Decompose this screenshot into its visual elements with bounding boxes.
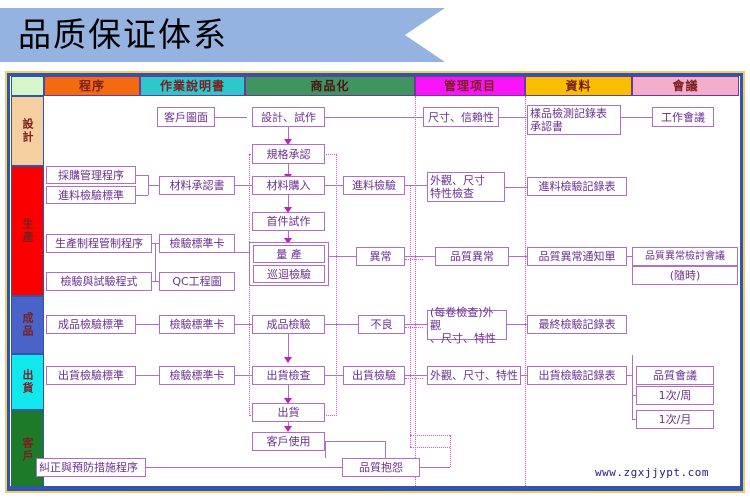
box-appearance-dimension-check-text: 外觀、尺寸 特性檢查 — [430, 174, 485, 200]
stage-label-production: 生產 — [21, 218, 34, 244]
connector-h — [136, 375, 159, 376]
header-column-procedure: 程序 — [44, 76, 140, 96]
connector-h — [146, 467, 342, 468]
connector-v — [385, 441, 386, 458]
connector-h — [405, 324, 427, 325]
connector-v — [325, 441, 326, 458]
dotted-connector-complaint-up — [450, 435, 451, 467]
box-finished-inspection-standard[interactable]: 成品檢驗標準 — [46, 315, 136, 334]
box-customer-drawing[interactable]: 客戶圖面 — [157, 107, 215, 127]
connector-v — [632, 355, 633, 420]
box-quality-abnormal-review-meeting[interactable]: 品質異常檢討會議 — [632, 247, 738, 266]
box-customer-use[interactable]: 客戶使用 — [252, 432, 325, 451]
dotted-connector-complaint-top — [410, 435, 450, 436]
connector-h — [621, 117, 652, 118]
connector-h — [215, 117, 247, 118]
connector-h — [325, 441, 385, 442]
connector-h — [509, 256, 527, 257]
box-material-purchase[interactable]: 材料購入 — [252, 176, 325, 195]
box-abnormal[interactable]: 異常 — [356, 247, 405, 266]
box-weekly-frequency[interactable]: 1次/周 — [636, 386, 714, 405]
connector-h — [136, 324, 159, 325]
connector-h — [136, 195, 148, 196]
box-patrol-inspection[interactable]: 巡迴檢驗 — [253, 265, 325, 283]
box-incoming-inspection-standard[interactable]: 進料檢驗標準 — [46, 186, 136, 204]
box-shipping-inspection[interactable]: 出貨檢驗 — [343, 366, 405, 385]
box-mass-production[interactable]: 量 產 — [253, 245, 325, 263]
stage-production: 生產 — [11, 166, 44, 296]
box-inspection-standard-card-1[interactable]: 檢驗標準卡 — [159, 234, 235, 253]
connector-h — [325, 324, 358, 325]
stage-label-finished-product: 成品 — [21, 312, 34, 338]
connector-h — [405, 256, 435, 257]
connector-h — [507, 324, 527, 325]
box-design-trial[interactable]: 設計、試作 — [252, 107, 325, 127]
box-monthly-frequency[interactable]: 1次/月 — [636, 410, 714, 429]
box-inspection-standard-card-3[interactable]: 檢驗標準卡 — [159, 366, 235, 385]
watermark-url: www.zgxjjypt.com — [595, 466, 709, 479]
stage-label-design: 設計 — [21, 118, 34, 144]
box-quality-meeting[interactable]: 品質會議 — [636, 366, 714, 385]
connector-v — [155, 243, 156, 281]
box-incoming-inspection-record[interactable]: 進料檢驗記錄表 — [527, 177, 627, 196]
connector-h — [235, 185, 252, 186]
dotted-connector-incoming-to-abnormal — [410, 185, 411, 447]
header-column-work-instruction: 作業說明書 — [140, 76, 245, 96]
box-defective[interactable]: 不良 — [358, 315, 405, 334]
connector-h — [420, 467, 450, 468]
bottom-strip — [7, 486, 743, 491]
box-finished-inspection[interactable]: 成品檢驗 — [252, 315, 325, 334]
connector-h — [325, 117, 423, 118]
connector-h — [325, 375, 343, 376]
dotted-divider-right — [525, 96, 526, 486]
connector-h — [505, 187, 527, 188]
box-spec-approval[interactable]: 規格承認 — [252, 144, 325, 164]
box-sample-inspection-record[interactable]: 樣品檢測記錄表 承認書 — [527, 105, 621, 135]
box-quality-abnormal[interactable]: 品質異常 — [435, 247, 509, 266]
connector-h — [148, 185, 159, 186]
box-qc-process-chart[interactable]: QC工程圖 — [159, 272, 235, 291]
stage-label-customer: 客戶 — [21, 437, 34, 463]
box-shipment[interactable]: 出貨 — [252, 403, 325, 422]
header-corner-blank — [11, 76, 44, 96]
dotted-divider-left — [415, 96, 416, 486]
box-shipping-inspection-record[interactable]: 出貨檢驗記錄表 — [527, 366, 627, 385]
dotted-connector-h — [405, 185, 411, 186]
connector-h — [235, 324, 252, 325]
header-column-documents: 資料 — [525, 76, 632, 96]
connector-h — [235, 375, 252, 376]
box-corrective-preventive-procedure[interactable]: 糾正與預防措施程序 — [36, 458, 146, 477]
header-column-commercialization: 商品化 — [245, 76, 415, 96]
box-incoming-inspection[interactable]: 進料檢驗 — [343, 176, 405, 195]
stage-shipping: 出貨 — [11, 354, 44, 410]
box-work-meeting[interactable]: 工作會議 — [652, 107, 714, 127]
connector-h — [405, 375, 427, 376]
connector-h — [152, 281, 159, 282]
box-appearance-dimension-characteristic[interactable]: 外觀、尺寸、特性 — [427, 366, 521, 385]
stage-design: 設計 — [11, 96, 44, 166]
stage-finished-product: 成品 — [11, 296, 44, 354]
stage-label-shipping: 出貨 — [21, 369, 34, 395]
header-column-management-item: 管理项目 — [415, 76, 525, 96]
box-inspection-standard-card-2[interactable]: 檢驗標準卡 — [159, 315, 235, 334]
box-quality-abnormal-notice[interactable]: 品質異常通知單 — [527, 247, 627, 266]
dotted-connector-complaint-return — [410, 447, 450, 448]
arrow-down — [284, 357, 292, 363]
box-roll-check-appearance[interactable]: (每卷檢查)外觀 、尺寸、特性 — [427, 310, 507, 340]
dotted-connector-defective — [405, 327, 423, 328]
box-dimension-reliability[interactable]: 尺寸、信賴性 — [423, 107, 499, 127]
box-appearance-dimension-check[interactable]: 外觀、尺寸 特性檢查 — [427, 172, 505, 202]
box-roll-check-appearance-text: (每卷檢查)外觀 、尺寸、特性 — [430, 306, 504, 345]
connector-h — [325, 185, 343, 186]
connector-h — [136, 175, 148, 176]
page-title: 品质保证体系 — [18, 12, 398, 58]
box-material-approval[interactable]: 材料承認書 — [159, 176, 235, 195]
header-column-meeting: 會議 — [632, 76, 739, 96]
box-production-control-procedure[interactable]: 生產制程管制程序 — [46, 234, 152, 253]
stage-customer: 客戶 — [11, 410, 44, 490]
box-shipping-check[interactable]: 出貨檢查 — [252, 366, 325, 385]
dotted-connector-abnormal — [405, 259, 423, 260]
box-shipping-inspection-standard[interactable]: 出貨檢驗標準 — [46, 366, 136, 385]
connector-h — [499, 117, 527, 118]
box-inspection-test-procedure[interactable]: 檢驗與試驗程式 — [46, 272, 152, 291]
box-first-article-trial[interactable]: 首件試作 — [252, 212, 325, 231]
box-final-inspection-record[interactable]: 最終檢驗記錄表 — [527, 315, 627, 334]
box-quality-complaint[interactable]: 品質抱怨 — [342, 458, 420, 477]
dotted-connector-shipping — [405, 378, 423, 379]
box-purchase-management-procedure[interactable]: 採購管理程序 — [46, 166, 136, 184]
box-sample-inspection-record-line1: 樣品檢測記錄表 承認書 — [530, 107, 607, 133]
connector-h — [329, 256, 356, 257]
box-anytime[interactable]: (隨時) — [632, 266, 738, 285]
